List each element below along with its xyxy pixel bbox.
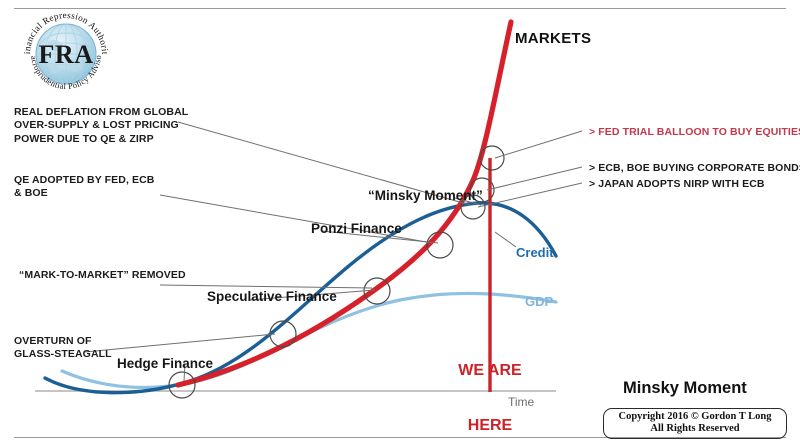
x-axis-label: Time <box>508 395 534 410</box>
annotation-glass-steagall: OVERTURN OF GLASS-STEAGALL <box>14 335 112 362</box>
we-are-here-line-2: HERE <box>437 417 543 435</box>
footer-title: Minsky Moment <box>623 378 747 399</box>
annotation-ecb-boe-bonds: > ECB, BOE BUYING CORPORATE BONDS <box>589 162 800 175</box>
leader-credit-label <box>495 232 516 247</box>
marker-fed-trial-balloon <box>480 146 504 170</box>
series-label-markets: MARKETS <box>515 29 591 48</box>
annotation-qe-adopted: QE ADOPTED BY FED, ECB & BOE <box>14 174 154 201</box>
leader-glass-steagall <box>85 334 275 352</box>
minsky-moment-infographic: Financial Repression Authority Macroprud… <box>0 0 800 448</box>
phase-label-ponzi-finance: Ponzi Finance <box>311 220 402 237</box>
series-label-credit: Credit <box>516 245 554 262</box>
copyright-line-2: All Rights Reserved <box>604 423 786 435</box>
copyright-line-1: Copyright 2016 © Gordon T Long <box>604 411 786 423</box>
leader-fed-trial-balloon <box>495 131 582 158</box>
phase-label-hedge-finance: Hedge Finance <box>117 355 213 372</box>
we-are-here-line-1: WE ARE <box>437 362 543 380</box>
annotation-mark-to-market: “MARK-TO-MARKET” REMOVED <box>19 269 186 282</box>
annotation-fed-trial-balloon: > FED TRIAL BALLOON TO BUY EQUITIES <box>589 126 800 139</box>
phase-label-speculative-finance: Speculative Finance <box>207 288 337 305</box>
annotation-real-deflation: REAL DEFLATION FROM GLOBAL OVER-SUPPLY &… <box>14 106 188 146</box>
we-are-here-marker: WE ARE HERE <box>437 326 543 448</box>
copyright-box: Copyright 2016 © Gordon T Long All Right… <box>603 408 787 439</box>
phase-label-minsky-moment: “Minsky Moment” <box>368 187 483 204</box>
annotation-japan-nirp: > JAPAN ADOPTS NIRP WITH ECB <box>589 178 765 191</box>
series-label-gdp: GDP <box>525 294 553 311</box>
